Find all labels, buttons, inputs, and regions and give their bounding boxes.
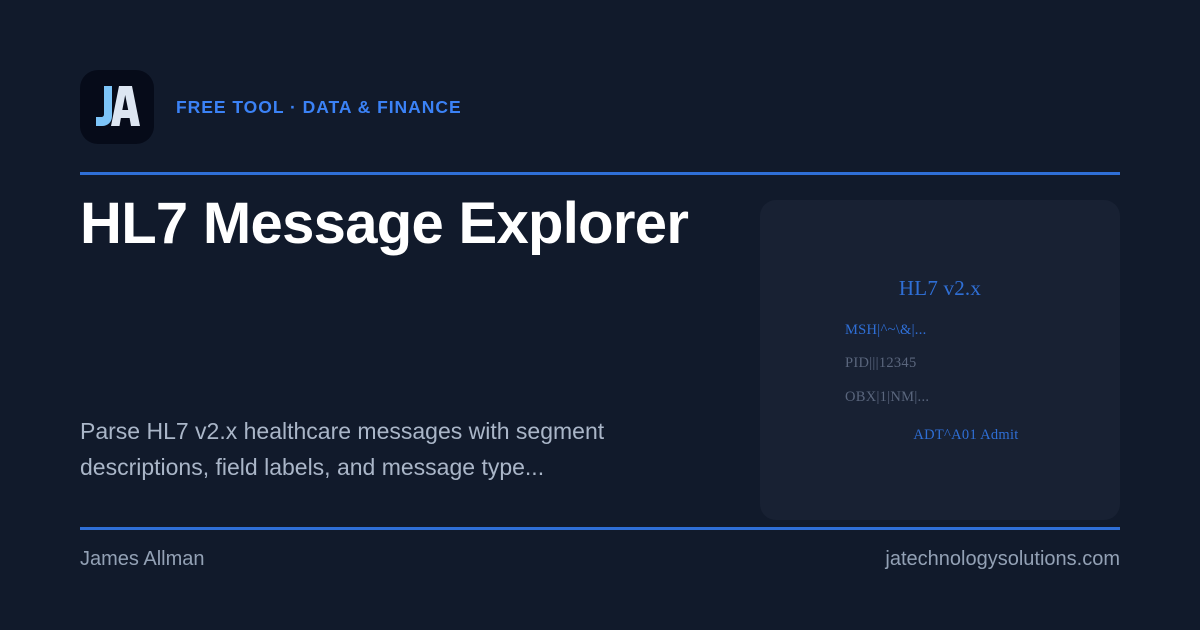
divider-top <box>80 172 1120 175</box>
divider-bottom <box>80 527 1120 530</box>
page-title: HL7 Message Explorer <box>80 193 740 256</box>
page-description: Parse HL7 v2.x healthcare messages with … <box>80 414 730 486</box>
og-card-canvas: FREE TOOL · DATA & FINANCE HL7 Message E… <box>0 0 1200 630</box>
ja-monogram-logo-icon <box>80 70 154 144</box>
footer: James Allman jatechnologysolutions.com <box>80 548 1120 571</box>
preview-message-type: ADT^A01 Admit <box>861 427 1018 444</box>
header: FREE TOOL · DATA & FINANCE <box>80 70 462 144</box>
eyebrow-label: FREE TOOL · DATA & FINANCE <box>176 97 462 118</box>
hl7-segment-line: PID|||12345 <box>845 356 1120 371</box>
hl7-segment-line: MSH|^~\&|... <box>845 323 1120 338</box>
footer-site-url: jatechnologysolutions.com <box>885 548 1120 571</box>
preview-heading: HL7 v2.x <box>899 276 981 301</box>
hl7-segment-line: OBX|1|NM|... <box>845 390 1120 405</box>
hl7-preview-card: HL7 v2.x MSH|^~\&|... PID|||12345 OBX|1|… <box>760 200 1120 520</box>
hl7-segment-list: MSH|^~\&|... PID|||12345 OBX|1|NM|... <box>760 323 1120 423</box>
footer-author: James Allman <box>80 548 205 571</box>
